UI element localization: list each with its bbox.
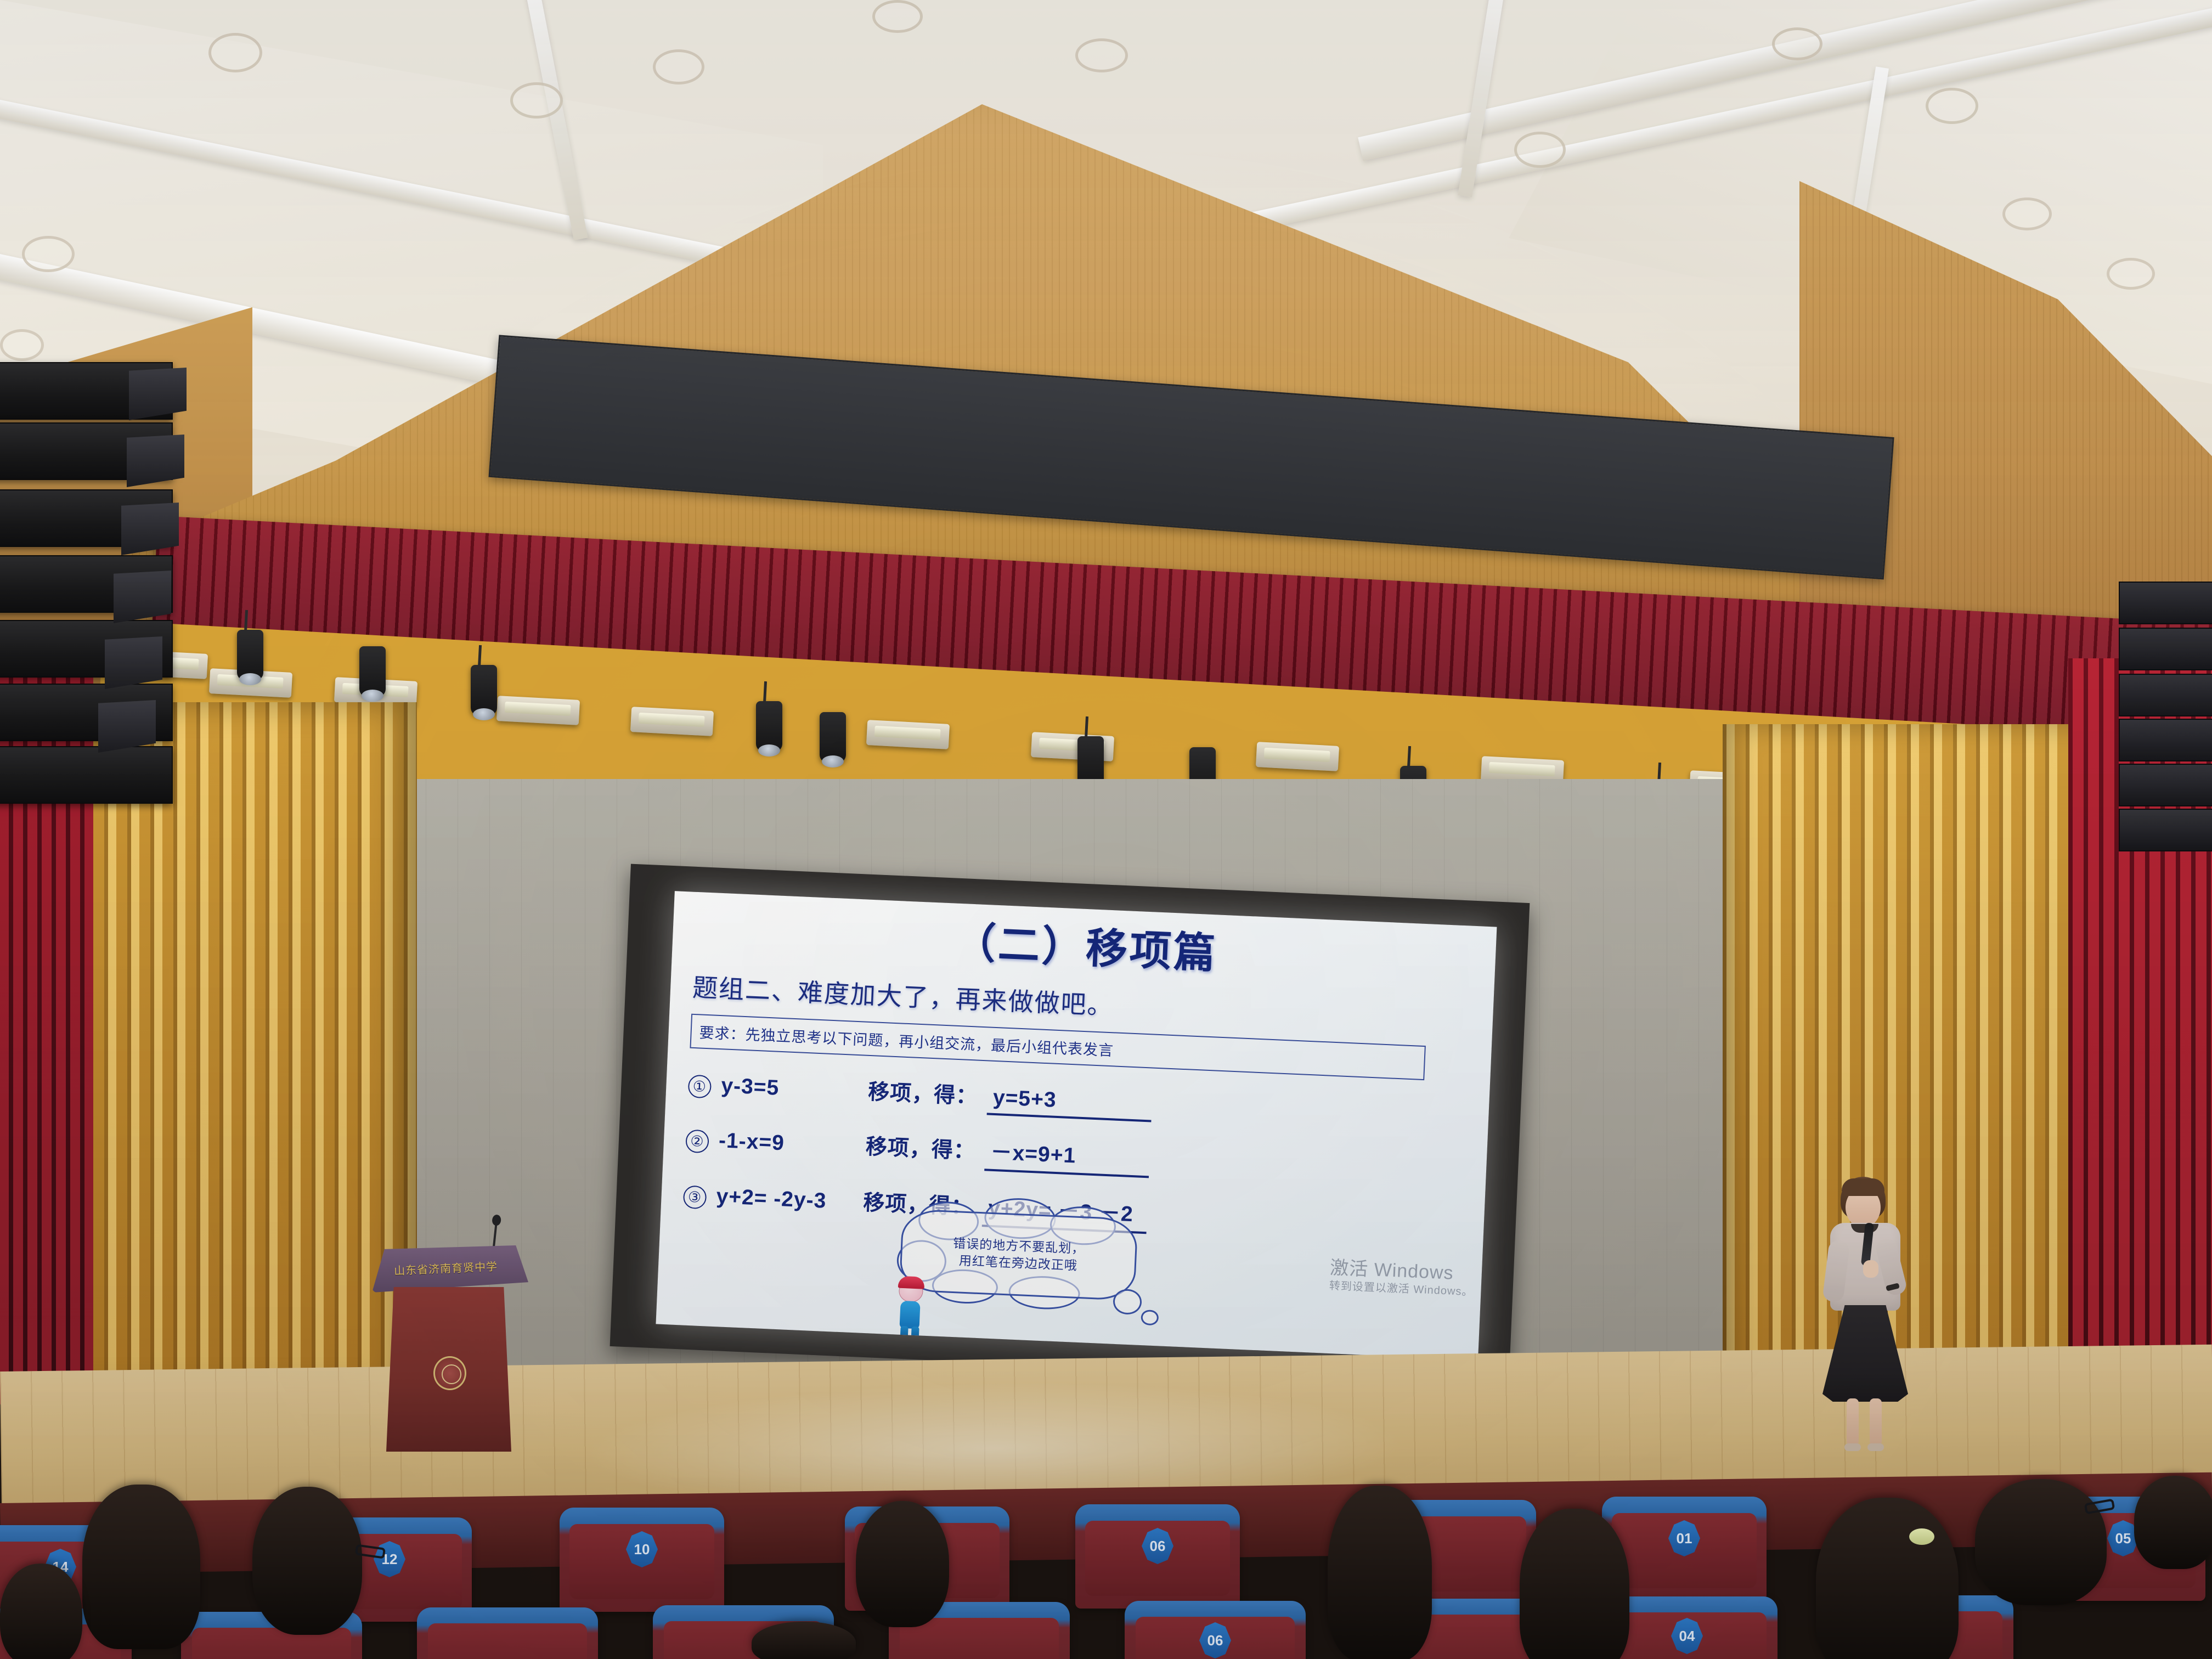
speaker-module (2119, 764, 2212, 806)
recessed-ceiling-light-icon (2107, 258, 2155, 290)
audience-head (1520, 1509, 1629, 1659)
speaker-module (2119, 582, 2212, 624)
thought-bubble: 错误的地方不要乱划， 用红笔在旁边改正哦 (898, 1209, 1188, 1325)
auditorium-photo: （二）移项篇 题组二、难度加大了，再来做做吧。 要求：先独立思考以下问题，再小组… (0, 0, 2212, 1659)
audience-head (752, 1622, 856, 1659)
recessed-ceiling-light-icon (872, 0, 923, 33)
fresnel-light-icon (630, 707, 714, 736)
equation-answer: y=5+3 (987, 1085, 1153, 1122)
par-can-light-icon (820, 712, 846, 763)
thought-cloud: 错误的地方不要乱划， 用红笔在旁边改正哦 (899, 1209, 1138, 1301)
seat[interactable]: 06 (1125, 1601, 1306, 1659)
audience-head (82, 1485, 200, 1649)
mascot-body (900, 1301, 921, 1329)
recessed-ceiling-light-icon (0, 329, 44, 361)
speaker-rigging-wing (121, 503, 179, 555)
mascot-leg (911, 1327, 919, 1340)
presenter-shoe (1867, 1443, 1884, 1451)
speaker-rigging-wing (98, 700, 156, 753)
recessed-ceiling-light-icon (1514, 132, 1566, 168)
audience-head (1975, 1479, 2107, 1605)
equation-row: ② -1-x=9 移项，得： －x=9+1 (685, 1121, 1469, 1192)
equation-lhs: y-3=5 (721, 1074, 859, 1104)
equation-answer: －x=9+1 (984, 1135, 1150, 1178)
audience-head (252, 1487, 362, 1635)
par-can-light-icon (237, 630, 263, 680)
par-can-light-icon (471, 665, 497, 715)
speaker-module (2119, 628, 2212, 670)
podium: 山东省济南育贤中学 (369, 1241, 533, 1471)
audience-head (0, 1564, 82, 1659)
equation-marker: ② (685, 1130, 709, 1154)
equation-operation: 移项，得： (865, 1130, 976, 1165)
presentation-slide: （二）移项篇 题组二、难度加大了，再来做做吧。 要求：先独立思考以下问题，再小组… (656, 891, 1497, 1360)
hair-scrunchie (1909, 1528, 1934, 1545)
presenter-shoe (1844, 1443, 1861, 1451)
line-array-speaker-left (0, 362, 206, 795)
recessed-ceiling-light-icon (1075, 38, 1128, 72)
recessed-ceiling-light-icon (510, 82, 563, 119)
windows-activation-watermark: 激活 Windows 转到设置以激活 Windows。 (1329, 1256, 1474, 1299)
presenter-skirt (1822, 1305, 1908, 1402)
recessed-ceiling-light-icon (1772, 27, 1822, 60)
equation-row: ① y-3=5 移项，得： y=5+3 (687, 1066, 1470, 1136)
speaker-rigging-wing (105, 636, 162, 689)
speaker-module (2119, 809, 2212, 851)
seat[interactable] (417, 1607, 598, 1659)
speaker-rigging-wing (114, 571, 171, 623)
cartoon-mascot-icon (891, 1279, 930, 1341)
projection-screen: （二）移项篇 题组二、难度加大了，再来做做吧。 要求：先独立思考以下问题，再小组… (656, 891, 1497, 1360)
audience-head (2134, 1476, 2212, 1569)
projection-screen-frame: （二）移项篇 题组二、难度加大了，再来做做吧。 要求：先独立思考以下问题，再小组… (610, 864, 1530, 1386)
recessed-ceiling-light-icon (22, 236, 75, 272)
equation-marker: ① (687, 1075, 712, 1099)
fresnel-light-icon (496, 696, 580, 725)
audience-head (1816, 1498, 1959, 1659)
seat[interactable]: 10 (560, 1508, 724, 1612)
audience-head (1328, 1486, 1432, 1659)
fresnel-light-icon (866, 720, 950, 749)
speaker-module (2119, 674, 2212, 716)
par-can-light-icon (359, 646, 386, 697)
presenter-teacher (1810, 1177, 1920, 1451)
seat[interactable]: 06 (1075, 1504, 1240, 1609)
presenter-hand (1863, 1260, 1878, 1278)
recessed-ceiling-light-icon (208, 33, 262, 72)
fresnel-light-icon (1256, 742, 1339, 771)
equation-lhs: y+2= -2y-3 (716, 1184, 854, 1215)
mascot-leg (900, 1326, 909, 1340)
recessed-ceiling-light-icon (1926, 88, 1978, 124)
school-emblem-icon (433, 1356, 466, 1390)
recessed-ceiling-light-icon (2002, 198, 2052, 230)
line-array-speaker-right (2119, 582, 2212, 889)
equation-operation: 移项，得： (867, 1075, 978, 1110)
presenter-leg (1847, 1398, 1859, 1446)
seat-cushion (428, 1623, 587, 1659)
recessed-ceiling-light-icon (653, 49, 704, 84)
equation-lhs: -1-x=9 (718, 1128, 856, 1159)
audience-head (856, 1501, 949, 1627)
speaker-module (0, 746, 173, 804)
speaker-module (2119, 719, 2212, 761)
equation-marker: ③ (683, 1186, 707, 1210)
speaker-rigging-wing (129, 368, 187, 420)
presenter-fringe (1842, 1178, 1884, 1196)
presenter-leg (1870, 1398, 1882, 1446)
speaker-rigging-wing (127, 435, 184, 487)
par-can-light-icon (756, 701, 782, 752)
audience-seating: 14 12 10 06 01 05 (0, 1481, 2212, 1659)
